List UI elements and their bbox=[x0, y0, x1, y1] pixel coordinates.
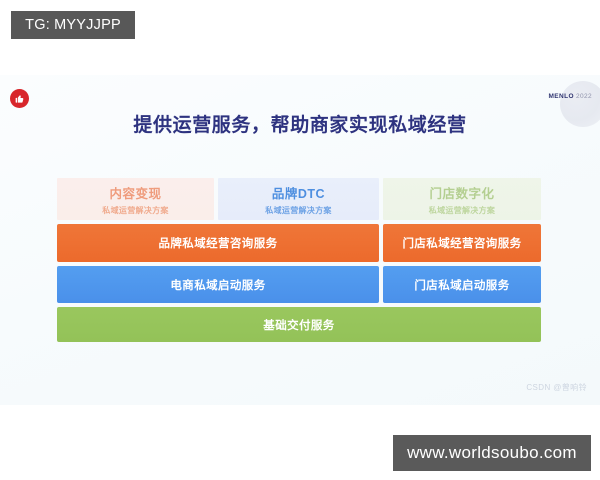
column-header-title: 内容变现 bbox=[109, 183, 161, 202]
column-header-subtitle: 私域运营解决方案 bbox=[429, 205, 495, 216]
diagram-header-row: 内容变现 私域运营解决方案 品牌DTC 私域运营解决方案 门店数字化 私域运营解… bbox=[57, 178, 541, 220]
service-block-ecommerce-startup[interactable]: 电商私域启动服务 bbox=[57, 266, 379, 303]
column-header-title: 品牌DTC bbox=[272, 183, 325, 202]
thumbs-up-icon bbox=[10, 89, 29, 108]
site-url-banner: www.worldsoubo.com bbox=[393, 435, 591, 471]
csdn-watermark: CSDN @曾响铃 bbox=[526, 382, 587, 393]
diagram-row-delivery: 基础交付服务 bbox=[57, 307, 541, 342]
service-block-basic-delivery[interactable]: 基础交付服务 bbox=[57, 307, 541, 342]
slide-title: 提供运营服务，帮助商家实现私域经营 bbox=[0, 110, 600, 137]
tg-handle-tag: TG: MYYJJPP bbox=[11, 11, 135, 39]
service-architecture-diagram: 内容变现 私域运营解决方案 品牌DTC 私域运营解决方案 门店数字化 私域运营解… bbox=[57, 178, 541, 342]
menlo-logo-word: MENLO bbox=[548, 93, 573, 100]
slide-canvas: MENLO2022 提供运营服务，帮助商家实现私域经营 内容变现 私域运营解决方… bbox=[0, 75, 600, 405]
diagram-column-header-brand-dtc[interactable]: 品牌DTC 私域运营解决方案 bbox=[218, 178, 379, 220]
column-header-subtitle: 私域运营解决方案 bbox=[102, 205, 168, 216]
menlo-logo: MENLO2022 bbox=[548, 93, 592, 100]
diagram-row-startup: 电商私域启动服务 门店私域启动服务 bbox=[57, 266, 541, 303]
diagram-column-header-store-digitization[interactable]: 门店数字化 私域运营解决方案 bbox=[383, 178, 541, 220]
service-block-store-consulting[interactable]: 门店私域经营咨询服务 bbox=[383, 224, 541, 262]
diagram-row-consulting: 品牌私域经营咨询服务 门店私域经营咨询服务 bbox=[57, 224, 541, 262]
service-block-store-startup[interactable]: 门店私域启动服务 bbox=[383, 266, 541, 303]
column-header-title: 门店数字化 bbox=[429, 183, 494, 202]
diagram-column-header-content-monetization[interactable]: 内容变现 私域运营解决方案 bbox=[57, 178, 214, 220]
menlo-logo-year: 2022 bbox=[576, 93, 592, 100]
service-block-brand-consulting[interactable]: 品牌私域经营咨询服务 bbox=[57, 224, 379, 262]
column-header-subtitle: 私域运营解决方案 bbox=[265, 205, 331, 216]
